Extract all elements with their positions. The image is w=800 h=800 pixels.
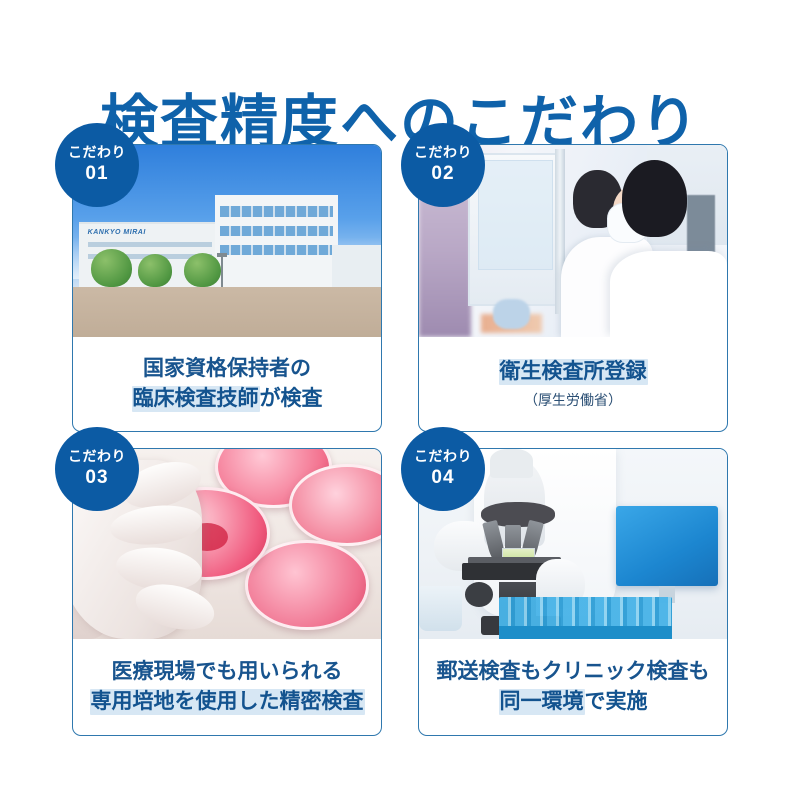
- cabinet-glass-panel: [478, 160, 554, 270]
- technician-front-coat: [610, 251, 727, 337]
- feature-card-04[interactable]: こだわり 04 郵送検査もクリニック検査も 同一環境で実施: [418, 448, 728, 736]
- badge-number: 02: [431, 163, 454, 185]
- badge-number: 01: [85, 163, 108, 185]
- caption-highlight: 同一環境: [499, 689, 585, 715]
- gloved-hand-icon: [493, 299, 530, 330]
- feature-card-grid: KANKYO MIRAI: [72, 144, 728, 736]
- badge-label: こだわり: [414, 449, 472, 464]
- card-caption-02: 衛生検査所登録 （厚生労働省）: [419, 337, 727, 431]
- badge-03: こだわり 03: [55, 427, 139, 511]
- caption-highlight: 臨床検査技師: [132, 386, 260, 412]
- microscope-eyepiece: [490, 449, 533, 478]
- card-caption-04: 郵送検査もクリニック検査も 同一環境で実施: [419, 639, 727, 735]
- feature-card-02[interactable]: こだわり 02 衛生検査所登録 （厚生労働省）: [418, 144, 728, 432]
- beaker-icon: [419, 586, 462, 632]
- caption-highlight: 専用培地を使用した精密検査: [90, 689, 365, 715]
- feature-card-03[interactable]: こだわり 03 医療現場でも用いられる 専用培地を使用した精密検査: [72, 448, 382, 736]
- badge-number: 03: [85, 467, 108, 489]
- infographic-page: 検査精度へのこだわり KANKYO MIRAI: [0, 0, 800, 800]
- badge-number: 04: [431, 467, 454, 489]
- building-main-block: [215, 195, 338, 291]
- caption-line-1: 国家資格保持者の: [143, 354, 311, 384]
- caption-line-1: 郵送検査もクリニック検査も: [437, 657, 710, 687]
- ground-plane: [73, 287, 381, 337]
- card-caption-03: 医療現場でも用いられる 専用培地を使用した精密検査: [73, 639, 381, 735]
- caption-rest: で実施: [585, 690, 648, 713]
- building-sign-text: KANKYO MIRAI: [88, 229, 146, 236]
- monitor-screen: [616, 506, 718, 586]
- window-row: [220, 245, 333, 256]
- caption-highlight: 衛生検査所登録: [499, 359, 648, 385]
- petri-dish: [245, 540, 368, 630]
- focus-knob: [465, 582, 493, 607]
- badge-01: こだわり 01: [55, 123, 139, 207]
- lamp-post-icon: [221, 256, 223, 287]
- caption-rest: が検査: [260, 387, 323, 410]
- caption-subtext: （厚生労働省）: [524, 390, 622, 411]
- feature-card-01[interactable]: KANKYO MIRAI: [72, 144, 382, 432]
- window-row: [220, 206, 333, 217]
- badge-label: こだわり: [68, 449, 126, 464]
- card-caption-01: 国家資格保持者の 臨床検査技師が検査: [73, 337, 381, 431]
- caption-line-2: 臨床検査技師が検査: [132, 384, 323, 414]
- badge-04: こだわり 04: [401, 427, 485, 511]
- caption-line-2: 衛生検査所登録: [499, 357, 648, 387]
- window-row: [220, 226, 333, 237]
- tree-icon: [91, 249, 131, 287]
- building-far-block: [332, 245, 381, 291]
- tree-icon: [138, 254, 172, 287]
- badge-02: こだわり 02: [401, 123, 485, 207]
- caption-line-2: 同一環境で実施: [499, 687, 648, 717]
- caption-line-1: 医療現場でも用いられる: [112, 657, 343, 687]
- technician-front-hair: [622, 160, 687, 237]
- caption-line-2: 専用培地を使用した精密検査: [90, 687, 365, 717]
- badge-label: こだわり: [414, 145, 472, 160]
- test-tube-rack-base: [499, 626, 671, 639]
- tree-icon: [184, 253, 221, 288]
- window-band: [88, 242, 213, 247]
- badge-label: こだわり: [68, 145, 126, 160]
